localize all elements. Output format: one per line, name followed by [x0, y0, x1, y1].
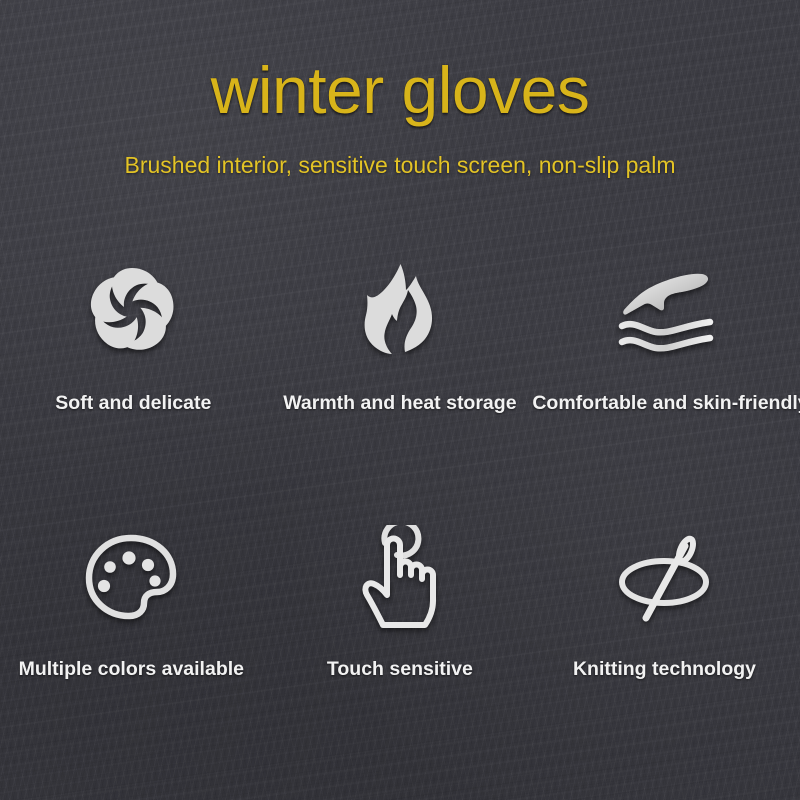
feature-label: Soft and delicate	[55, 391, 211, 415]
pinwheel-swirl-icon	[80, 255, 184, 365]
feature-item-soft-and-delicate: Soft and delicate	[0, 255, 267, 440]
feature-label: Knitting technology	[573, 657, 756, 681]
feature-grid: Soft and delicate Warmth and heat storag…	[0, 255, 800, 710]
feature-item-warmth-and-heat-storage: Warmth and heat storage	[267, 255, 534, 440]
hand-over-waves-icon	[616, 255, 716, 365]
feature-label: Touch sensitive	[327, 657, 473, 681]
feature-label: Multiple colors available	[19, 657, 244, 681]
paint-palette-icon	[79, 525, 183, 635]
feature-item-multiple-colors-available: Multiple colors available	[0, 525, 267, 710]
feature-label: Warmth and heat storage	[283, 391, 516, 415]
touch-hand-icon	[355, 525, 445, 635]
flame-icon	[354, 255, 446, 365]
banner-content: winter gloves Brushed interior, sensitiv…	[0, 0, 800, 800]
feature-item-touch-sensitive: Touch sensitive	[267, 525, 534, 710]
needle-thread-icon	[614, 525, 718, 635]
banner-subtitle: Brushed interior, sensitive touch screen…	[0, 150, 800, 180]
feature-row-1: Soft and delicate Warmth and heat storag…	[0, 255, 800, 440]
product-feature-banner: winter gloves Brushed interior, sensitiv…	[0, 0, 800, 800]
feature-item-knitting-technology: Knitting technology	[533, 525, 800, 710]
feature-row-2: Multiple colors available Touch sensitiv…	[0, 525, 800, 710]
banner-title: winter gloves	[0, 52, 800, 128]
feature-label: Comfortable and skin-friendly	[532, 391, 800, 415]
feature-item-comfortable-and-skin-friendly: Comfortable and skin-friendly	[533, 255, 800, 440]
